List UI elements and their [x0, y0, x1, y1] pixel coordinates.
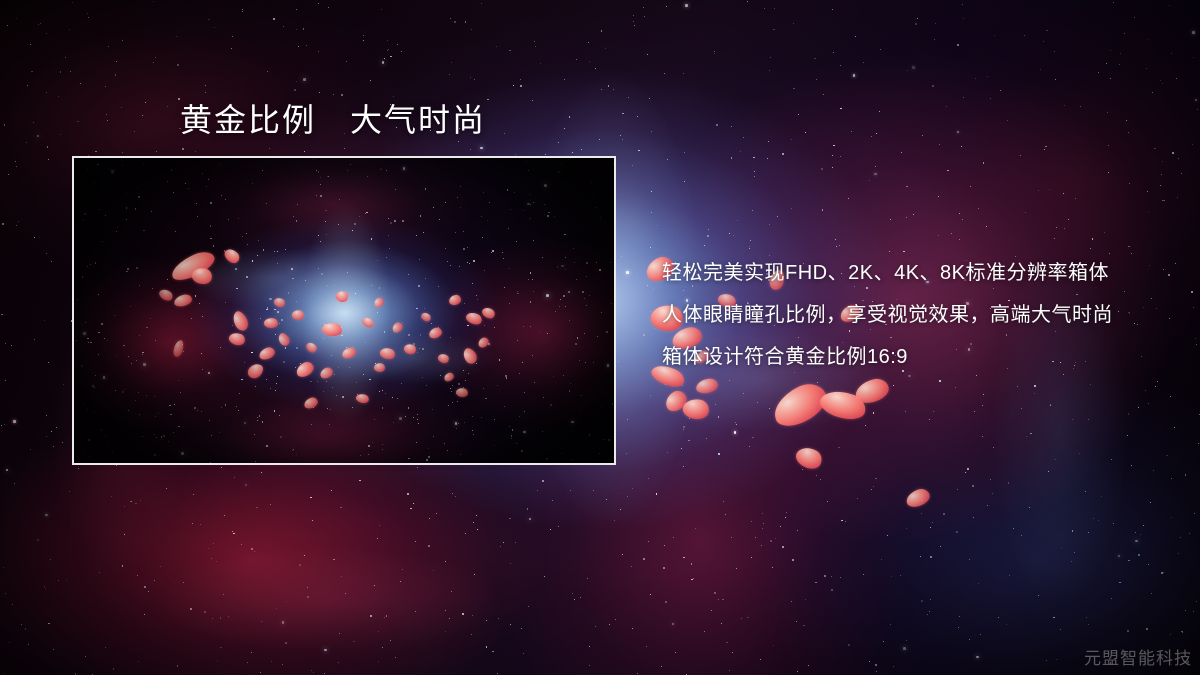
star — [605, 48, 606, 49]
star — [1029, 507, 1030, 508]
star — [1198, 443, 1199, 444]
star — [957, 489, 958, 490]
star — [650, 247, 651, 248]
star — [80, 83, 81, 84]
star — [415, 541, 416, 542]
star — [312, 520, 313, 521]
star — [729, 380, 730, 381]
star — [1162, 83, 1163, 84]
star — [691, 579, 692, 580]
star — [930, 527, 931, 528]
star — [618, 361, 619, 362]
star — [840, 577, 841, 578]
star — [205, 92, 206, 93]
star — [711, 610, 712, 611]
star — [520, 85, 521, 86]
star — [678, 383, 679, 384]
star — [564, 79, 565, 80]
star — [45, 588, 46, 589]
star — [528, 606, 529, 607]
star — [722, 599, 723, 600]
star — [331, 490, 332, 491]
star — [620, 135, 621, 136]
star — [827, 501, 828, 502]
star — [675, 652, 676, 653]
star — [622, 113, 623, 114]
star — [465, 533, 466, 534]
star — [509, 50, 510, 51]
star — [699, 411, 700, 412]
star — [1098, 520, 1099, 521]
star — [946, 106, 947, 107]
star — [943, 513, 945, 515]
star — [130, 501, 131, 502]
star — [762, 528, 763, 529]
star — [1178, 158, 1179, 159]
star — [633, 21, 634, 22]
star — [1169, 318, 1170, 319]
star — [510, 624, 511, 625]
star — [1191, 291, 1193, 293]
star — [294, 89, 296, 91]
star — [69, 491, 70, 492]
star — [374, 585, 375, 586]
star — [69, 29, 70, 30]
star — [18, 221, 19, 222]
star — [471, 29, 472, 30]
star — [704, 245, 705, 246]
star — [1145, 390, 1146, 391]
star — [875, 664, 877, 666]
star — [647, 285, 648, 286]
star — [6, 469, 9, 472]
star — [1045, 146, 1046, 147]
star — [1124, 33, 1125, 34]
star — [832, 155, 833, 156]
star — [791, 139, 792, 140]
star — [1020, 155, 1021, 156]
star — [606, 499, 607, 500]
star — [363, 40, 364, 41]
star — [876, 671, 877, 672]
star — [853, 74, 856, 77]
star — [1175, 263, 1176, 264]
star — [840, 156, 841, 157]
star — [1013, 528, 1014, 529]
star — [212, 618, 213, 619]
star — [5, 380, 6, 381]
star — [683, 426, 684, 427]
star — [961, 146, 962, 147]
star — [951, 233, 952, 234]
star — [60, 134, 61, 135]
presentation-slide: 黄金比例 大气时尚 轻松完美实现FHD、2K、4K、8K标准分辨率箱体 人体眼睛… — [0, 0, 1200, 675]
star — [144, 586, 145, 587]
star — [832, 9, 833, 10]
star — [34, 237, 35, 238]
star — [379, 525, 380, 526]
star — [1127, 630, 1128, 631]
star — [1085, 491, 1086, 492]
star — [754, 171, 755, 172]
star — [1090, 384, 1091, 385]
star — [978, 583, 979, 584]
star — [48, 362, 49, 363]
star — [726, 642, 728, 644]
star — [7, 25, 8, 26]
star — [63, 384, 64, 385]
star — [921, 600, 923, 602]
star — [99, 572, 100, 573]
flower-petal — [793, 443, 826, 473]
star — [769, 408, 770, 409]
star — [245, 484, 248, 487]
star — [66, 580, 67, 581]
star — [500, 546, 501, 547]
star — [111, 496, 112, 497]
star — [982, 405, 983, 406]
star — [841, 520, 843, 522]
star — [962, 219, 963, 220]
star — [1055, 459, 1056, 460]
star — [887, 535, 888, 536]
star — [915, 23, 917, 25]
star — [851, 131, 853, 133]
star — [685, 409, 686, 410]
star — [729, 670, 730, 671]
star — [1163, 572, 1164, 573]
star — [875, 166, 876, 167]
flower-petal — [817, 386, 869, 425]
star — [871, 489, 872, 490]
star — [1030, 433, 1031, 434]
star — [983, 394, 984, 395]
star — [620, 509, 621, 510]
star — [1135, 532, 1136, 533]
star — [38, 24, 39, 25]
star — [767, 158, 768, 159]
flower-petal — [681, 396, 711, 422]
star — [542, 480, 544, 482]
star — [721, 623, 722, 624]
star — [378, 631, 379, 632]
star — [4, 424, 5, 425]
star — [304, 555, 305, 556]
star — [544, 576, 545, 577]
star — [840, 65, 841, 66]
star — [987, 76, 988, 77]
star — [311, 670, 312, 671]
star — [1088, 532, 1089, 533]
star — [241, 544, 242, 545]
star — [570, 490, 571, 491]
star — [261, 621, 262, 622]
star — [282, 664, 283, 665]
star — [46, 92, 47, 93]
star — [558, 526, 559, 527]
star — [216, 561, 217, 562]
star — [751, 521, 752, 522]
star — [1148, 212, 1149, 213]
star — [714, 51, 715, 52]
star — [998, 617, 999, 618]
star — [407, 493, 408, 494]
star — [980, 634, 981, 635]
flower-petal — [853, 376, 891, 406]
star — [251, 652, 252, 653]
star — [486, 646, 487, 647]
star — [56, 427, 57, 428]
star — [706, 438, 707, 439]
star — [718, 416, 720, 418]
star — [664, 545, 665, 546]
star — [691, 563, 693, 565]
star — [390, 56, 392, 58]
star — [220, 647, 222, 649]
star — [1153, 470, 1154, 471]
star — [782, 546, 784, 548]
star — [1178, 553, 1179, 554]
star — [107, 120, 108, 121]
star — [1154, 148, 1155, 149]
star — [649, 98, 650, 99]
star — [761, 545, 762, 546]
star — [1193, 307, 1194, 308]
star — [21, 624, 22, 625]
star — [195, 151, 196, 152]
star — [474, 574, 475, 575]
star — [1064, 105, 1065, 106]
star — [905, 411, 906, 412]
star — [821, 168, 823, 170]
star — [764, 8, 765, 9]
star — [217, 660, 218, 661]
star — [224, 515, 225, 516]
star — [814, 58, 815, 59]
star — [333, 94, 334, 95]
star — [310, 497, 312, 499]
star — [601, 89, 602, 90]
star — [60, 71, 61, 72]
star — [477, 529, 478, 530]
star — [318, 3, 319, 4]
star — [62, 442, 63, 443]
star — [935, 23, 936, 24]
star — [749, 446, 750, 447]
star — [1196, 344, 1197, 345]
star — [299, 564, 301, 566]
star — [650, 594, 651, 595]
star — [716, 124, 718, 126]
star — [324, 649, 327, 652]
flower-petal — [695, 378, 719, 395]
star — [1147, 191, 1148, 192]
star — [1166, 455, 1167, 456]
star — [815, 582, 816, 583]
star — [145, 102, 146, 103]
star — [718, 599, 719, 600]
star — [627, 419, 628, 420]
star — [88, 17, 89, 18]
star — [1185, 474, 1186, 475]
star — [401, 51, 402, 52]
star — [917, 18, 918, 19]
star — [2, 223, 3, 224]
star — [685, 4, 688, 7]
star — [683, 429, 684, 430]
star — [743, 393, 744, 394]
star — [753, 157, 754, 158]
star — [200, 524, 201, 525]
star — [1148, 564, 1149, 565]
flower-petal — [767, 377, 832, 432]
star — [622, 554, 623, 555]
star — [891, 576, 892, 577]
star — [328, 7, 329, 8]
star — [736, 568, 737, 569]
star — [963, 18, 964, 19]
star — [333, 559, 334, 560]
star — [874, 173, 877, 176]
star — [939, 144, 940, 145]
star — [1054, 238, 1055, 239]
star — [959, 213, 960, 214]
star — [664, 73, 665, 74]
star — [733, 235, 734, 236]
star — [1046, 30, 1047, 31]
star — [1146, 68, 1147, 69]
star — [205, 85, 206, 86]
star — [693, 578, 694, 579]
star — [807, 467, 808, 468]
star — [1044, 149, 1045, 150]
star — [1170, 396, 1171, 397]
star — [634, 25, 635, 26]
star — [993, 447, 994, 448]
star — [802, 469, 803, 470]
star — [962, 4, 963, 5]
star — [1107, 112, 1108, 113]
star — [938, 235, 939, 236]
star — [1, 425, 2, 426]
body-line-3: 箱体设计符合黄金比例16:9 — [662, 336, 1162, 378]
star — [907, 70, 908, 71]
star — [970, 186, 971, 187]
star — [470, 149, 471, 150]
star — [631, 566, 632, 567]
star — [1180, 537, 1181, 538]
star — [1177, 197, 1178, 198]
star — [1161, 572, 1162, 573]
star — [452, 493, 453, 494]
star — [816, 79, 817, 80]
star — [775, 538, 776, 539]
star — [1143, 525, 1144, 526]
star — [772, 567, 773, 568]
star — [359, 480, 360, 481]
star — [105, 647, 106, 648]
star — [646, 646, 647, 647]
star — [1171, 53, 1172, 54]
star — [588, 42, 589, 43]
star — [1072, 419, 1073, 420]
star — [46, 253, 47, 254]
star — [803, 456, 804, 457]
star — [740, 151, 741, 152]
star — [833, 145, 834, 146]
star — [893, 666, 894, 667]
star — [1110, 78, 1111, 79]
star — [1163, 269, 1164, 270]
star — [204, 611, 206, 613]
star — [913, 214, 914, 215]
star — [510, 563, 511, 564]
star — [498, 618, 499, 619]
star — [1138, 407, 1139, 408]
star — [251, 548, 253, 550]
star — [1126, 120, 1127, 121]
star — [626, 271, 629, 274]
star — [1189, 533, 1190, 534]
star — [445, 561, 446, 562]
star — [269, 148, 270, 149]
star — [527, 508, 528, 509]
star — [933, 411, 934, 412]
star — [757, 402, 758, 403]
star — [576, 59, 577, 60]
star — [387, 40, 388, 41]
star — [906, 528, 907, 529]
star — [729, 233, 730, 234]
star — [957, 131, 960, 134]
star — [1, 314, 2, 315]
star — [8, 174, 9, 175]
star — [1162, 200, 1163, 201]
star — [632, 165, 633, 166]
star — [78, 468, 79, 469]
star — [876, 133, 877, 134]
star — [545, 154, 546, 155]
star — [614, 520, 615, 521]
star — [1128, 413, 1130, 415]
star — [515, 154, 516, 155]
star — [769, 70, 770, 71]
star — [1155, 386, 1156, 387]
star — [458, 141, 459, 142]
star — [65, 57, 66, 58]
star — [760, 659, 761, 660]
star — [1040, 69, 1041, 70]
star — [959, 616, 960, 617]
star — [504, 133, 505, 134]
star — [1024, 35, 1025, 36]
star — [503, 542, 504, 543]
star — [213, 543, 214, 544]
star — [932, 522, 933, 523]
star — [454, 21, 455, 22]
star — [666, 6, 667, 7]
star — [632, 488, 633, 489]
star — [848, 198, 849, 199]
star — [688, 440, 689, 441]
star — [965, 472, 966, 473]
star — [33, 122, 34, 123]
star — [1170, 634, 1171, 635]
star — [384, 58, 385, 59]
star — [1157, 381, 1158, 382]
star — [1050, 404, 1051, 405]
star — [1160, 185, 1161, 186]
